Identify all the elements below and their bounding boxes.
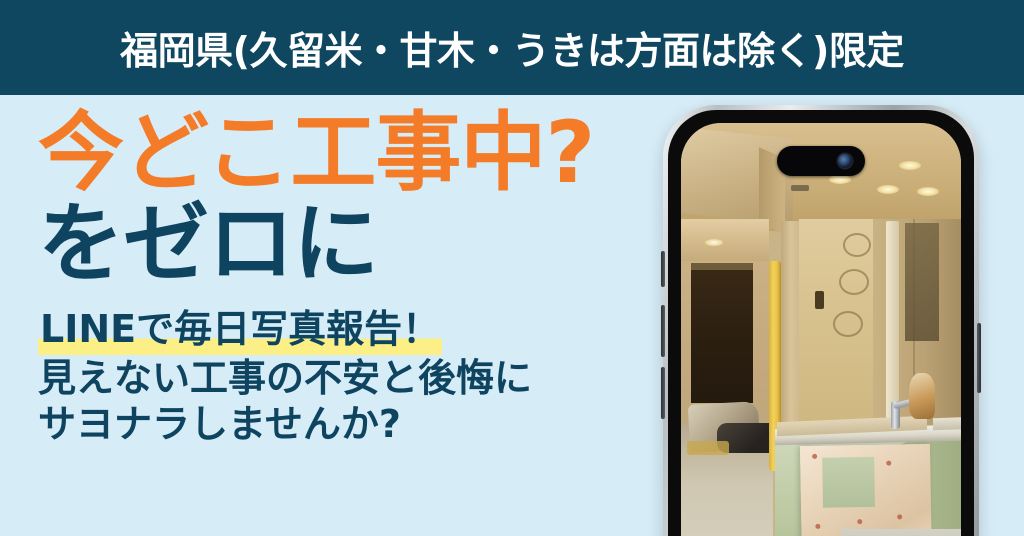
construction-photo [681,123,961,536]
photo-plywood-cutout [822,457,875,508]
promo-banner: 福岡県(久留米・甘木・うきは方面は除く)限定 今どこ工事中? をゼロに LINE… [0,0,1024,536]
phone-bezel [668,110,974,536]
photo-wall-marking [839,269,869,295]
photo-plywood-knot [897,514,902,519]
subcopy-line-2: 見えない工事の不安と後悔に [38,355,648,401]
photo-counter-bag [909,373,935,419]
photo-plywood-panel [800,444,932,536]
dynamic-island [777,146,865,176]
photo-hallway-doorway [691,263,753,403]
subcopy-block: LINEで毎日写真報告！ 見えない工事の不安と後悔に サヨナラしませんか? [38,306,648,447]
phone-mockup [663,105,979,536]
photo-downlight [899,161,921,170]
photo-wall-outlet [815,291,824,309]
phone-action-button[interactable] [661,251,665,287]
photo-hallway-ceiling [681,219,769,261]
photo-counter-item [933,416,961,430]
photo-downlight [829,175,851,184]
phone-volume-up-button[interactable] [661,305,665,357]
photo-downlight [877,185,899,194]
front-camera-icon [838,154,852,168]
photo-floor-sheet [841,529,961,536]
photo-plywood-knot [886,461,891,466]
photo-wall-marking [843,233,871,257]
photo-hallway-downlight [705,239,723,246]
headline-line-1: 今どこ工事中? [38,108,648,199]
phone-volume-down-button[interactable] [661,367,665,419]
photo-recessed-opening [905,223,939,341]
phone-power-button[interactable] [977,323,981,393]
region-ribbon-text: 福岡県(久留米・甘木・うきは方面は除く)限定 [120,20,904,75]
photo-plywood-knot [815,524,820,529]
photo-timber [687,441,729,455]
photo-hallway-door-header [691,263,753,270]
photo-plywood-knot [812,454,817,459]
subcopy-line-1-wrap: LINEで毎日写真報告！ [38,306,648,354]
headline: 今どこ工事中? をゼロに [38,108,648,290]
photo-downlight [917,187,939,196]
photo-wall-marking [833,311,863,337]
subcopy-line-1-highlighted: LINEで毎日写真報告！ [38,306,442,354]
phone-screen [681,123,961,536]
headline-line-2: をゼロに [38,199,648,290]
region-ribbon: 福岡県(久留米・甘木・うきは方面は除く)限定 [0,0,1024,95]
subcopy-line-3: サヨナラしませんか? [38,401,648,447]
copy-block: 今どこ工事中? をゼロに LINEで毎日写真報告！ 見えない工事の不安と後悔に … [38,108,648,447]
photo-ceiling-vent [791,185,809,191]
photo-plywood-knot [857,519,862,524]
